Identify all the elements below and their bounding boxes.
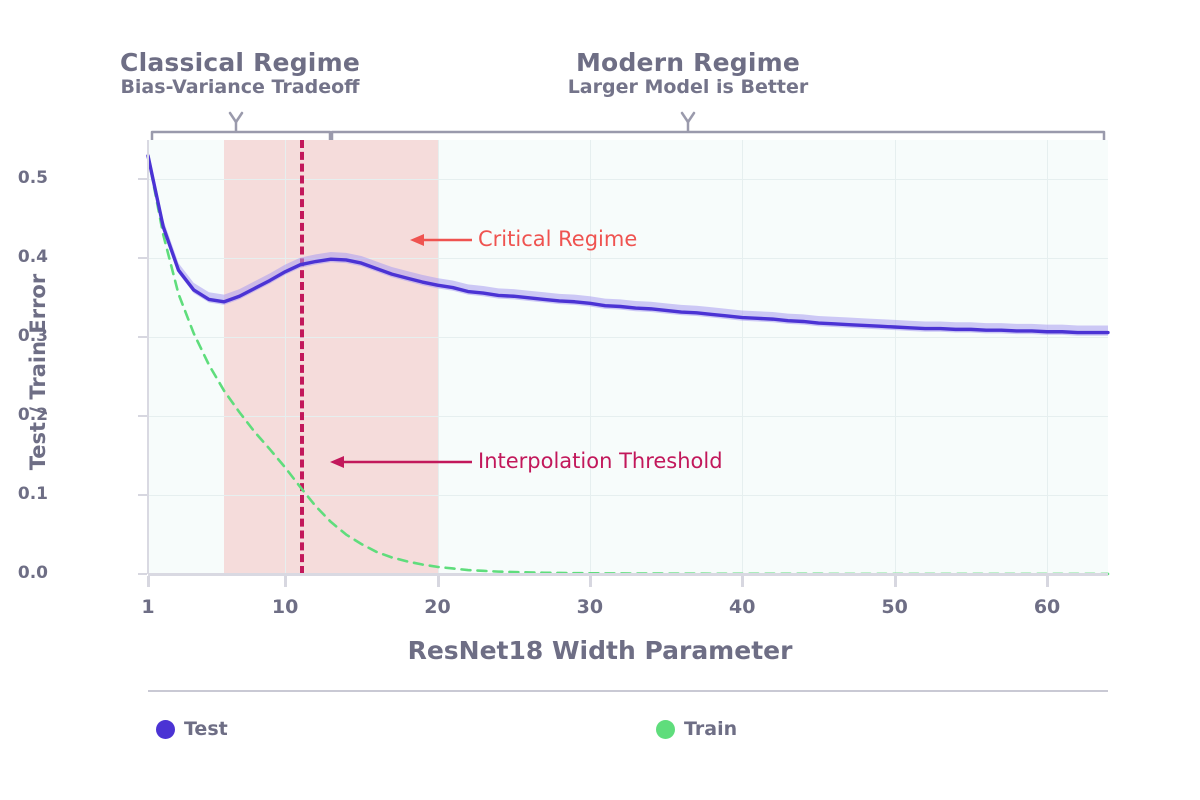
regime-label-modern: Modern Regime Larger Model is Better <box>508 50 868 100</box>
brace-modern-tip <box>682 113 694 122</box>
x-tick-mark <box>589 576 592 587</box>
x-tick-mark <box>437 576 440 587</box>
legend-label: Train <box>684 718 737 740</box>
y-tick-mark <box>138 178 147 180</box>
x-tick-label: 60 <box>1034 596 1060 618</box>
x-tick-mark <box>1046 576 1049 587</box>
x-tick-mark <box>147 576 150 587</box>
y-axis-label: Test / Train Error <box>26 262 50 482</box>
brace-classical <box>152 122 330 140</box>
y-tick-label: 0.1 <box>18 484 48 504</box>
x-tick-mark <box>894 576 897 587</box>
y-tick-label: 0.5 <box>18 168 48 188</box>
y-tick-label: 0.0 <box>18 563 48 583</box>
annotation-arrows <box>148 140 1108 574</box>
x-axis-label: ResNet18 Width Parameter <box>0 636 1200 665</box>
annotation-interpolation-threshold: Interpolation Threshold <box>478 449 723 473</box>
x-axis-line <box>148 573 1108 576</box>
regime-classical-subtitle: Bias-Variance Tradeoff <box>60 76 420 100</box>
plot-area <box>148 140 1108 574</box>
x-tick-label: 20 <box>424 596 450 618</box>
double-descent-figure: Classical Regime Bias-Variance Tradeoff … <box>0 0 1200 800</box>
regime-label-classical: Classical Regime Bias-Variance Tradeoff <box>60 50 420 100</box>
critical-regime-arrow-head <box>410 234 424 246</box>
regime-classical-title: Classical Regime <box>60 50 420 76</box>
y-axis-line <box>147 140 149 574</box>
legend-label: Test <box>184 718 228 740</box>
legend-divider <box>148 690 1108 692</box>
y-tick-mark <box>138 336 147 338</box>
x-tick-label: 10 <box>272 596 298 618</box>
annotation-critical-regime: Critical Regime <box>478 227 637 251</box>
x-tick-mark <box>741 576 744 587</box>
x-tick-label: 50 <box>881 596 907 618</box>
x-tick-label: 1 <box>141 596 154 618</box>
brace-modern <box>332 122 1104 140</box>
legend-swatch-icon <box>656 720 675 739</box>
legend-item[interactable]: Test <box>156 718 228 740</box>
interpolation-threshold-arrow-head <box>330 456 344 468</box>
regime-modern-subtitle: Larger Model is Better <box>508 76 868 100</box>
legend: TestTrain <box>148 718 1108 762</box>
brace-classical-tip <box>230 113 242 122</box>
x-tick-label: 40 <box>729 596 755 618</box>
x-tick-mark <box>284 576 287 587</box>
y-tick-mark <box>138 257 147 259</box>
y-tick-mark <box>138 573 147 575</box>
regime-modern-title: Modern Regime <box>508 50 868 76</box>
x-tick-label: 30 <box>577 596 603 618</box>
y-tick-mark <box>138 415 147 417</box>
y-tick-mark <box>138 494 147 496</box>
legend-item[interactable]: Train <box>656 718 737 740</box>
legend-swatch-icon <box>156 720 175 739</box>
